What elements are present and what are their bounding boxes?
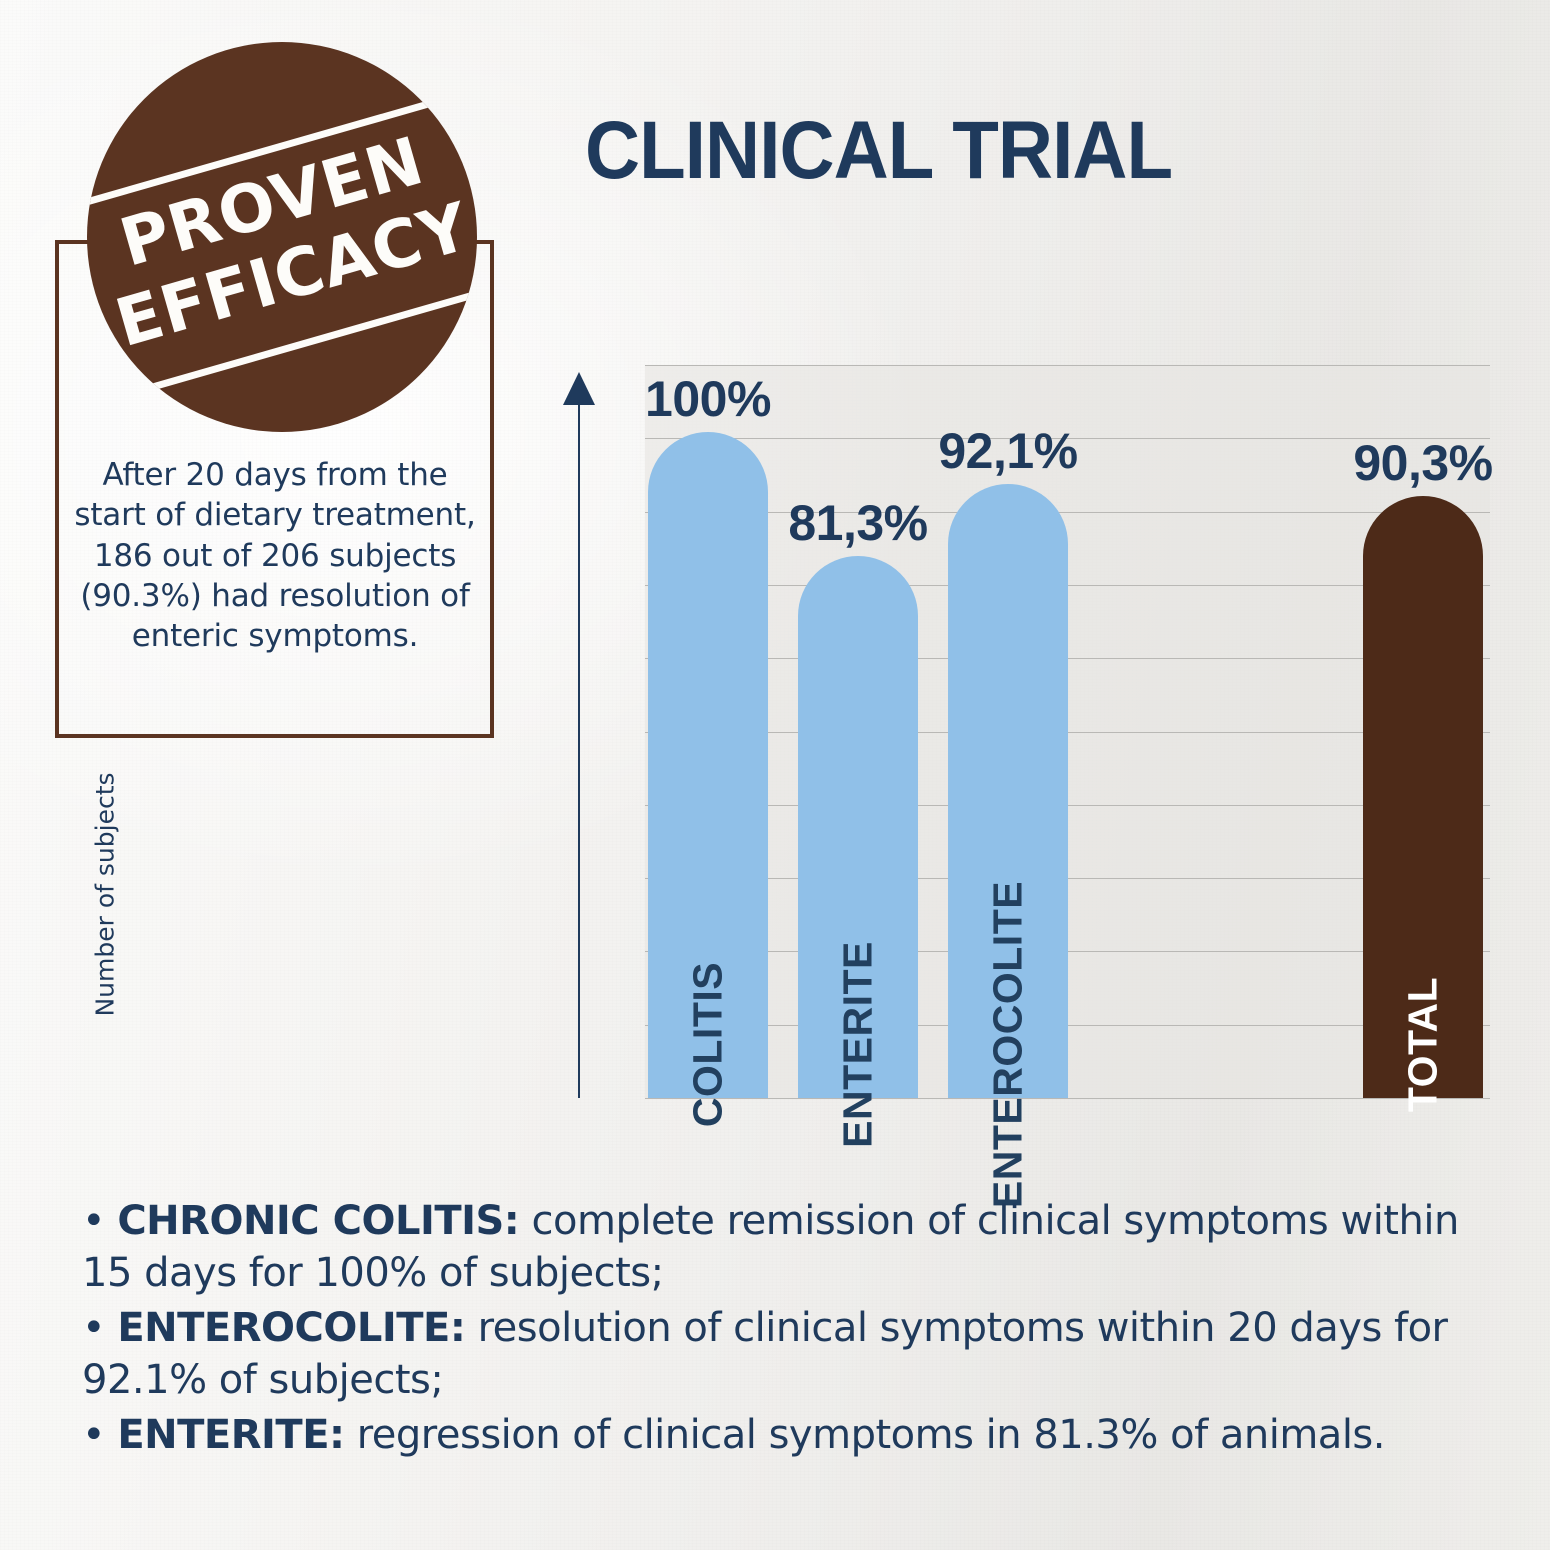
bar-value-label: 100% [593, 370, 823, 428]
bar-enterocolite: ENTEROCOLITE [948, 484, 1068, 1098]
bullet-marker-icon: • [82, 1198, 117, 1244]
list-item-lead: ENTEROCOLITE: [117, 1305, 465, 1351]
list-item-lead: CHRONIC COLITIS: [117, 1198, 519, 1244]
y-axis-arrow-icon [563, 372, 595, 405]
bullet-marker-icon: • [82, 1412, 117, 1458]
bar-value-label: 81,3% [743, 494, 973, 552]
bar-category-label: TOTAL [1400, 977, 1447, 1112]
list-item: • ENTEROCOLITE: resolution of clinical s… [82, 1302, 1482, 1406]
bar-total: TOTAL [1363, 496, 1483, 1098]
badge-inner: PROVEN EFFICACY [87, 42, 477, 432]
summary-text: After 20 days from the start of dietary … [70, 455, 480, 656]
list-item: • ENTERITE: regression of clinical sympt… [82, 1409, 1482, 1461]
bullet-marker-icon: • [82, 1305, 117, 1351]
gridline [645, 365, 1490, 366]
bar-category-label: COLITIS [685, 962, 732, 1127]
bar-category-label: ENTEROCOLITE [985, 881, 1032, 1208]
bar-enterite: ENTERITE [798, 556, 918, 1098]
y-axis-line [578, 398, 580, 1098]
list-item-text: regression of clinical symptoms in 81.3%… [345, 1412, 1385, 1458]
list-item-lead: ENTERITE: [117, 1412, 344, 1458]
bar-category-label: ENTERITE [835, 941, 882, 1148]
bar-value-label: 90,3% [1308, 434, 1538, 492]
y-axis-label: Number of subjects [91, 745, 120, 1045]
bar-value-label: 92,1% [893, 422, 1123, 480]
list-item: • CHRONIC COLITIS: complete remission of… [82, 1195, 1482, 1299]
gridline [645, 1098, 1490, 1099]
proven-efficacy-badge: PROVEN EFFICACY [87, 42, 477, 432]
infographic-page: After 20 days from the start of dietary … [0, 0, 1550, 1550]
findings-list: • CHRONIC COLITIS: complete remission of… [82, 1195, 1482, 1464]
